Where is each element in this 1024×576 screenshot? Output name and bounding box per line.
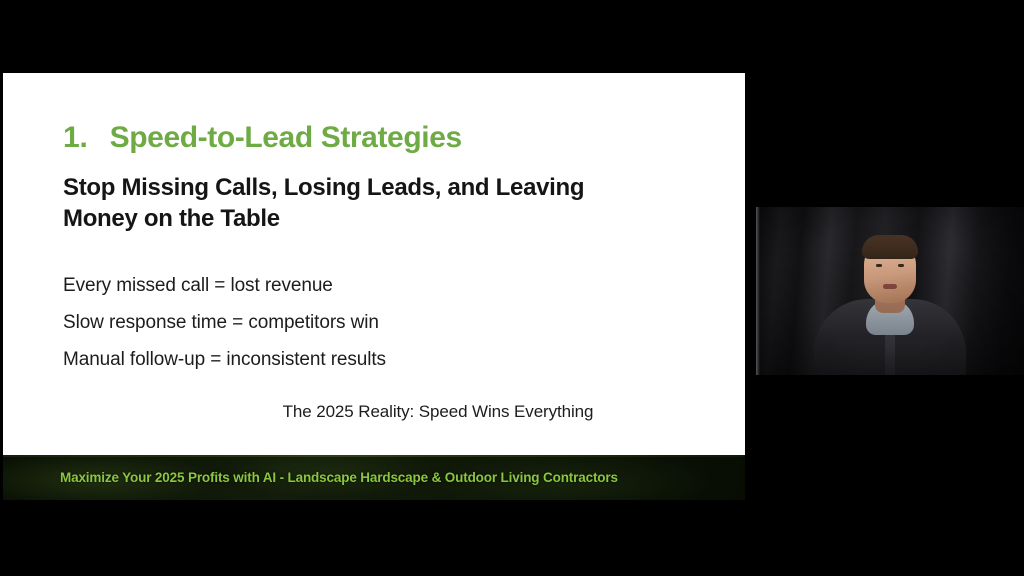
presentation-stage: 1. Speed-to-Lead Strategies Stop Missing… xyxy=(0,0,1024,576)
list-item: Slow response time = competitors win xyxy=(63,304,705,341)
slide-heading-number: 1. xyxy=(63,121,88,154)
slide-kicker-line: The 2025 Reality: Speed Wins Everything xyxy=(63,402,705,422)
slide-bullet-list: Every missed call = lost revenue Slow re… xyxy=(63,267,705,378)
slide-heading-title: Speed-to-Lead Strategies xyxy=(110,121,462,154)
slide-heading: 1. Speed-to-Lead Strategies xyxy=(63,121,705,154)
list-item: Manual follow-up = inconsistent results xyxy=(63,341,705,378)
footer-banner-text: Maximize Your 2025 Profits with AI - Lan… xyxy=(60,470,618,485)
video-left-edge xyxy=(756,207,760,375)
list-item: Every missed call = lost revenue xyxy=(63,267,705,304)
slide-subtitle: Stop Missing Calls, Losing Leads, and Le… xyxy=(63,173,663,234)
presenter-video-feed[interactable] xyxy=(756,207,1024,375)
video-grade xyxy=(756,207,1024,375)
footer-banner: Maximize Your 2025 Profits with AI - Lan… xyxy=(3,455,745,500)
slide-canvas: 1. Speed-to-Lead Strategies Stop Missing… xyxy=(3,73,745,455)
slide-content: 1. Speed-to-Lead Strategies Stop Missing… xyxy=(3,73,745,455)
